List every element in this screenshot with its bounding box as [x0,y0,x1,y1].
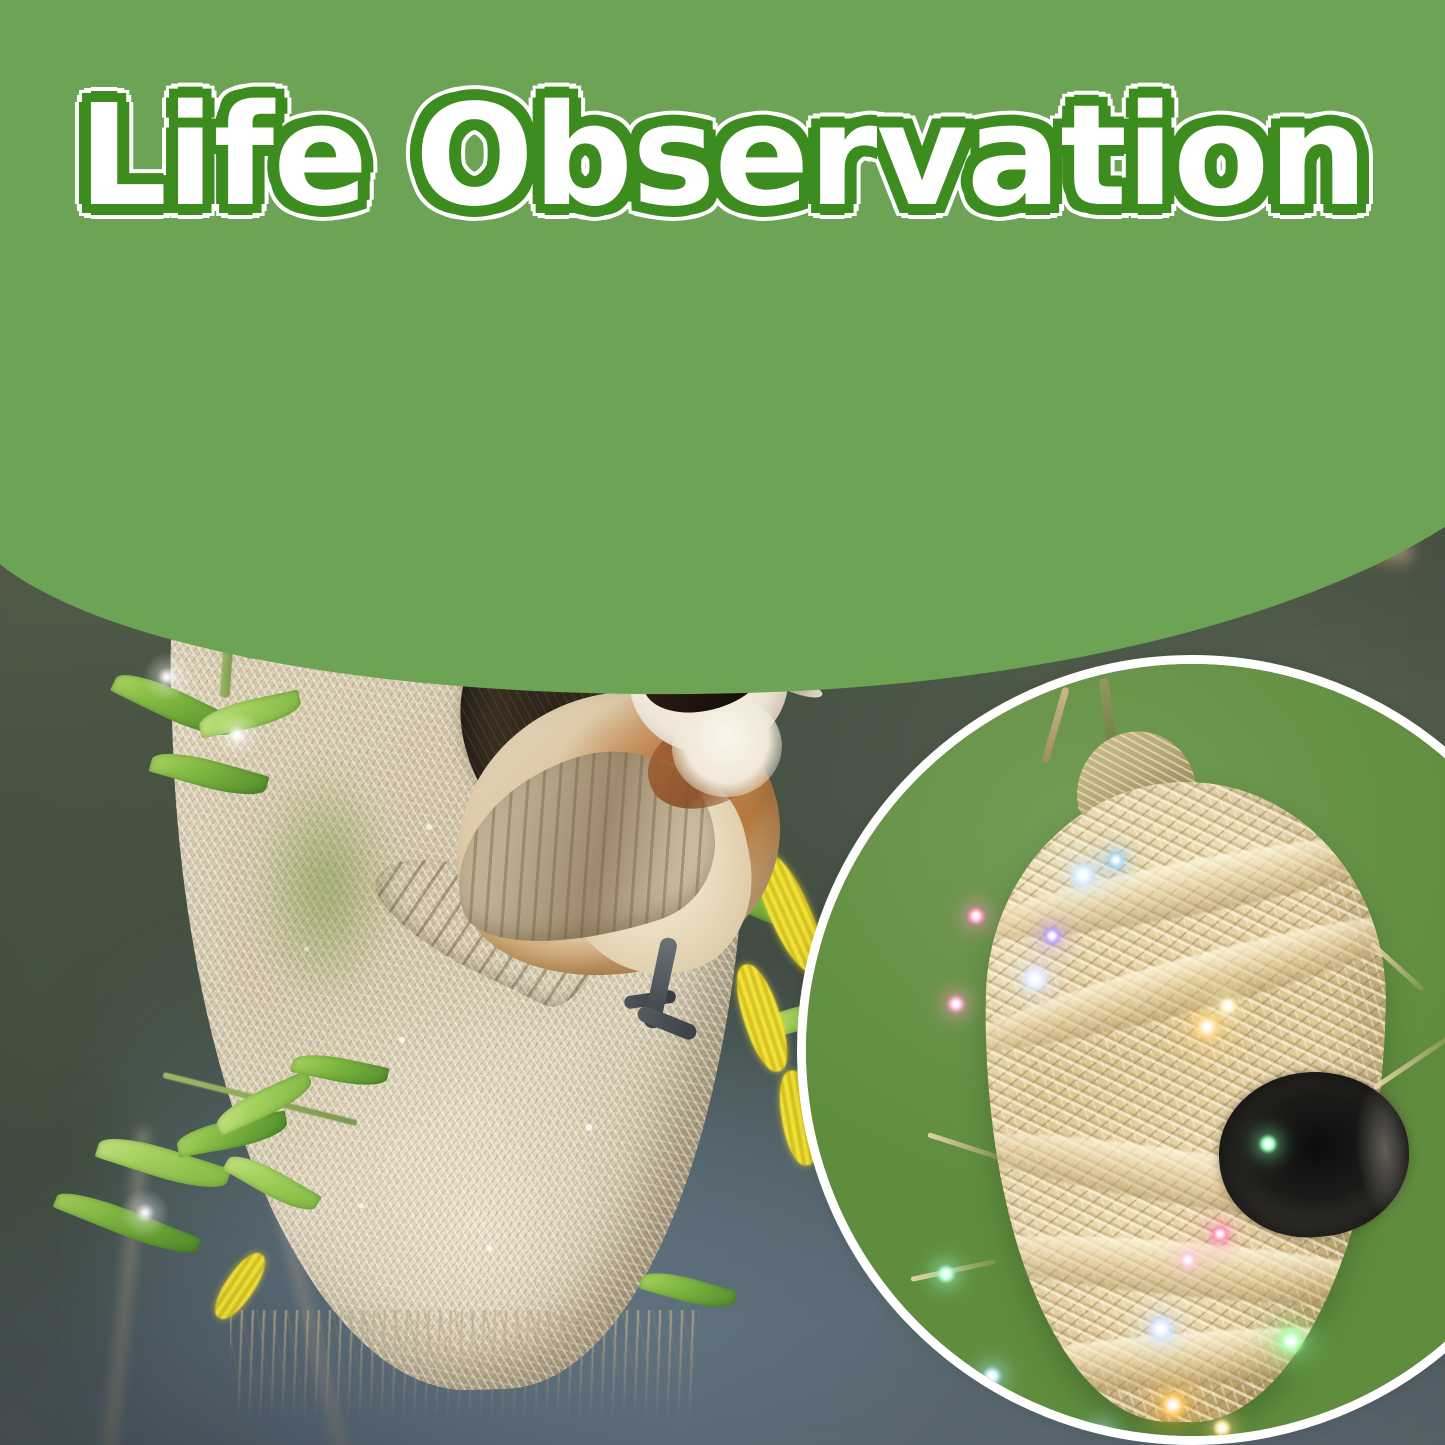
seed-fluff-1 [210,708,264,762]
header-banner [0,0,1445,724]
led-light-2 [1042,926,1062,946]
led-light-8 [1258,1134,1278,1154]
led-light-5 [946,994,966,1014]
led-light-13 [936,1264,956,1284]
nest-bottom-fringe [230,1310,700,1420]
led-light-0 [1068,860,1098,890]
product-detail-circle[interactable] [797,655,1445,1445]
straw-band-5 [978,1315,1389,1403]
led-light-14 [982,1366,1002,1386]
led-light-12 [1276,1326,1306,1356]
led-light-6 [1192,1012,1222,1042]
led-light-17 [1212,1418,1232,1438]
led-light-4 [966,906,986,926]
led-light-11 [1146,1314,1176,1344]
led-light-1 [1106,850,1126,870]
bird-foot [635,1004,698,1042]
led-light-15 [1158,1390,1188,1420]
straw-band-4 [978,1222,1389,1319]
poster-canvas: Life Observation [0,0,1445,1445]
led-light-9 [1210,1224,1230,1244]
led-light-7 [1218,996,1238,1016]
led-light-3 [1020,964,1050,994]
seed-fluff-0 [140,650,194,704]
led-light-10 [1178,1250,1198,1270]
seed-fluff-2 [118,1186,172,1240]
